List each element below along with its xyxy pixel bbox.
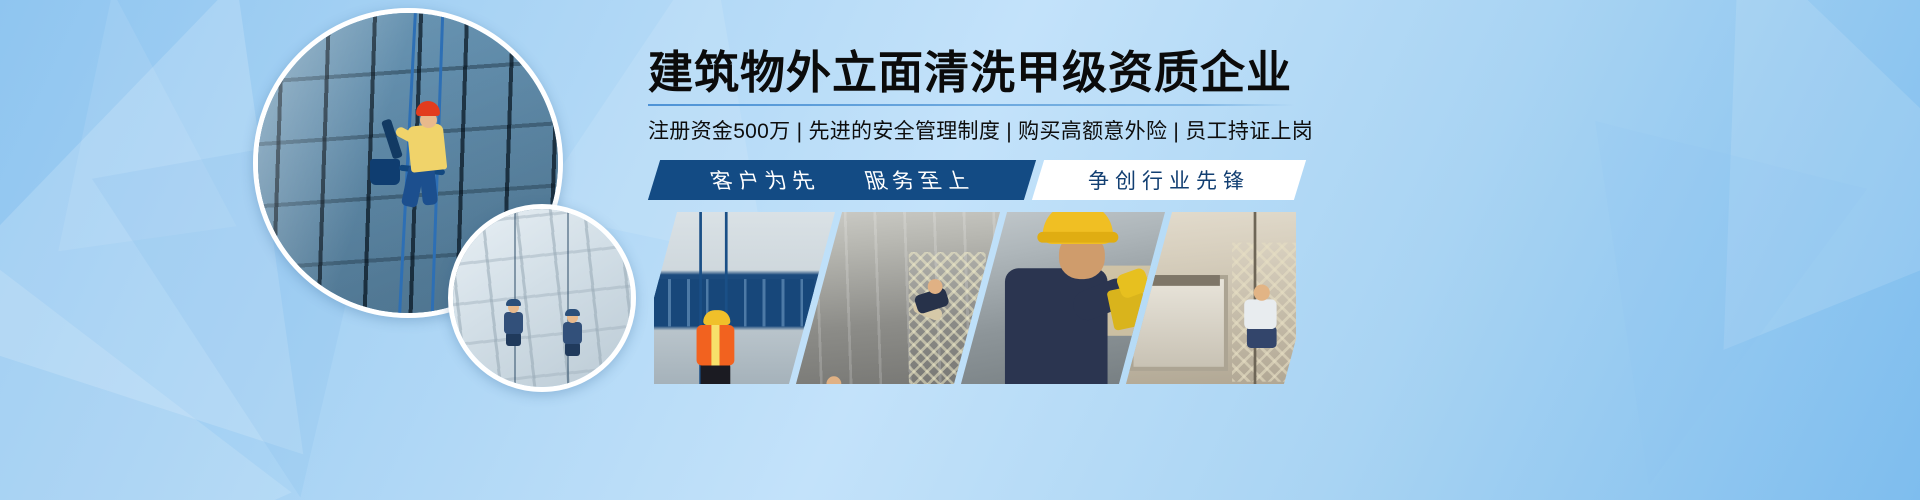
worker-torso: [1244, 299, 1276, 329]
photo-montage: [654, 212, 1296, 384]
slogan-tag-secondary: 争创行业先锋: [1032, 160, 1306, 200]
balcony-graphic: [1130, 275, 1228, 371]
slogan-primary-left: 客户为先: [706, 165, 823, 195]
worker-figure: [995, 212, 1141, 384]
worker-torso: [563, 322, 582, 344]
background-triangle-icon: [1513, 121, 1867, 500]
worker-figure: [690, 310, 744, 384]
slogan-secondary-label: 争创行业先锋: [1088, 165, 1250, 195]
worker-figure: [808, 377, 843, 384]
helmet-icon: [565, 309, 580, 316]
rope-worker-figure: [501, 302, 527, 342]
worker-figure: [911, 279, 957, 325]
slogan-tag-primary: 客户为先 服务至上: [648, 160, 1036, 200]
worker-leg: [506, 332, 521, 346]
worker-head: [1254, 284, 1270, 300]
helmet-icon: [506, 299, 521, 306]
helmet-icon: [416, 101, 440, 116]
window-cleaner-figure: [391, 101, 453, 209]
subtitle: 注册资金500万 | 先进的安全管理制度 | 购买高额意外险 | 员工持证上岗: [648, 115, 1298, 145]
worker-head: [826, 377, 841, 384]
rope-worker-figure: [560, 312, 586, 352]
worker-leg: [1247, 326, 1277, 348]
building-facade-graphic: [453, 209, 631, 387]
circle-photo-light-facade: [448, 204, 636, 392]
slogan-bar: 客户为先 服务至上 争创行业先锋: [654, 160, 1300, 200]
promotional-banner: 建筑物外立面清洗甲级资质企业 注册资金500万 | 先进的安全管理制度 | 购买…: [0, 0, 1920, 500]
slogan-primary-right: 服务至上: [860, 165, 977, 195]
worker-leg: [701, 362, 731, 384]
drop-line: [567, 209, 569, 387]
page-title: 建筑物外立面清洗甲级资质企业: [648, 48, 1298, 98]
helmet-icon: [1043, 212, 1113, 244]
safety-vest: [697, 324, 735, 365]
headline-block: 建筑物外立面清洗甲级资质企业 注册资金500万 | 先进的安全管理制度 | 购买…: [648, 48, 1298, 145]
helmet-icon: [704, 310, 731, 325]
worker-torso: [407, 123, 448, 173]
worker-leg: [565, 342, 580, 356]
divider: [648, 104, 1294, 106]
worker-torso: [1006, 268, 1109, 384]
worker-torso: [504, 312, 523, 334]
worker-figure: [1239, 284, 1285, 346]
